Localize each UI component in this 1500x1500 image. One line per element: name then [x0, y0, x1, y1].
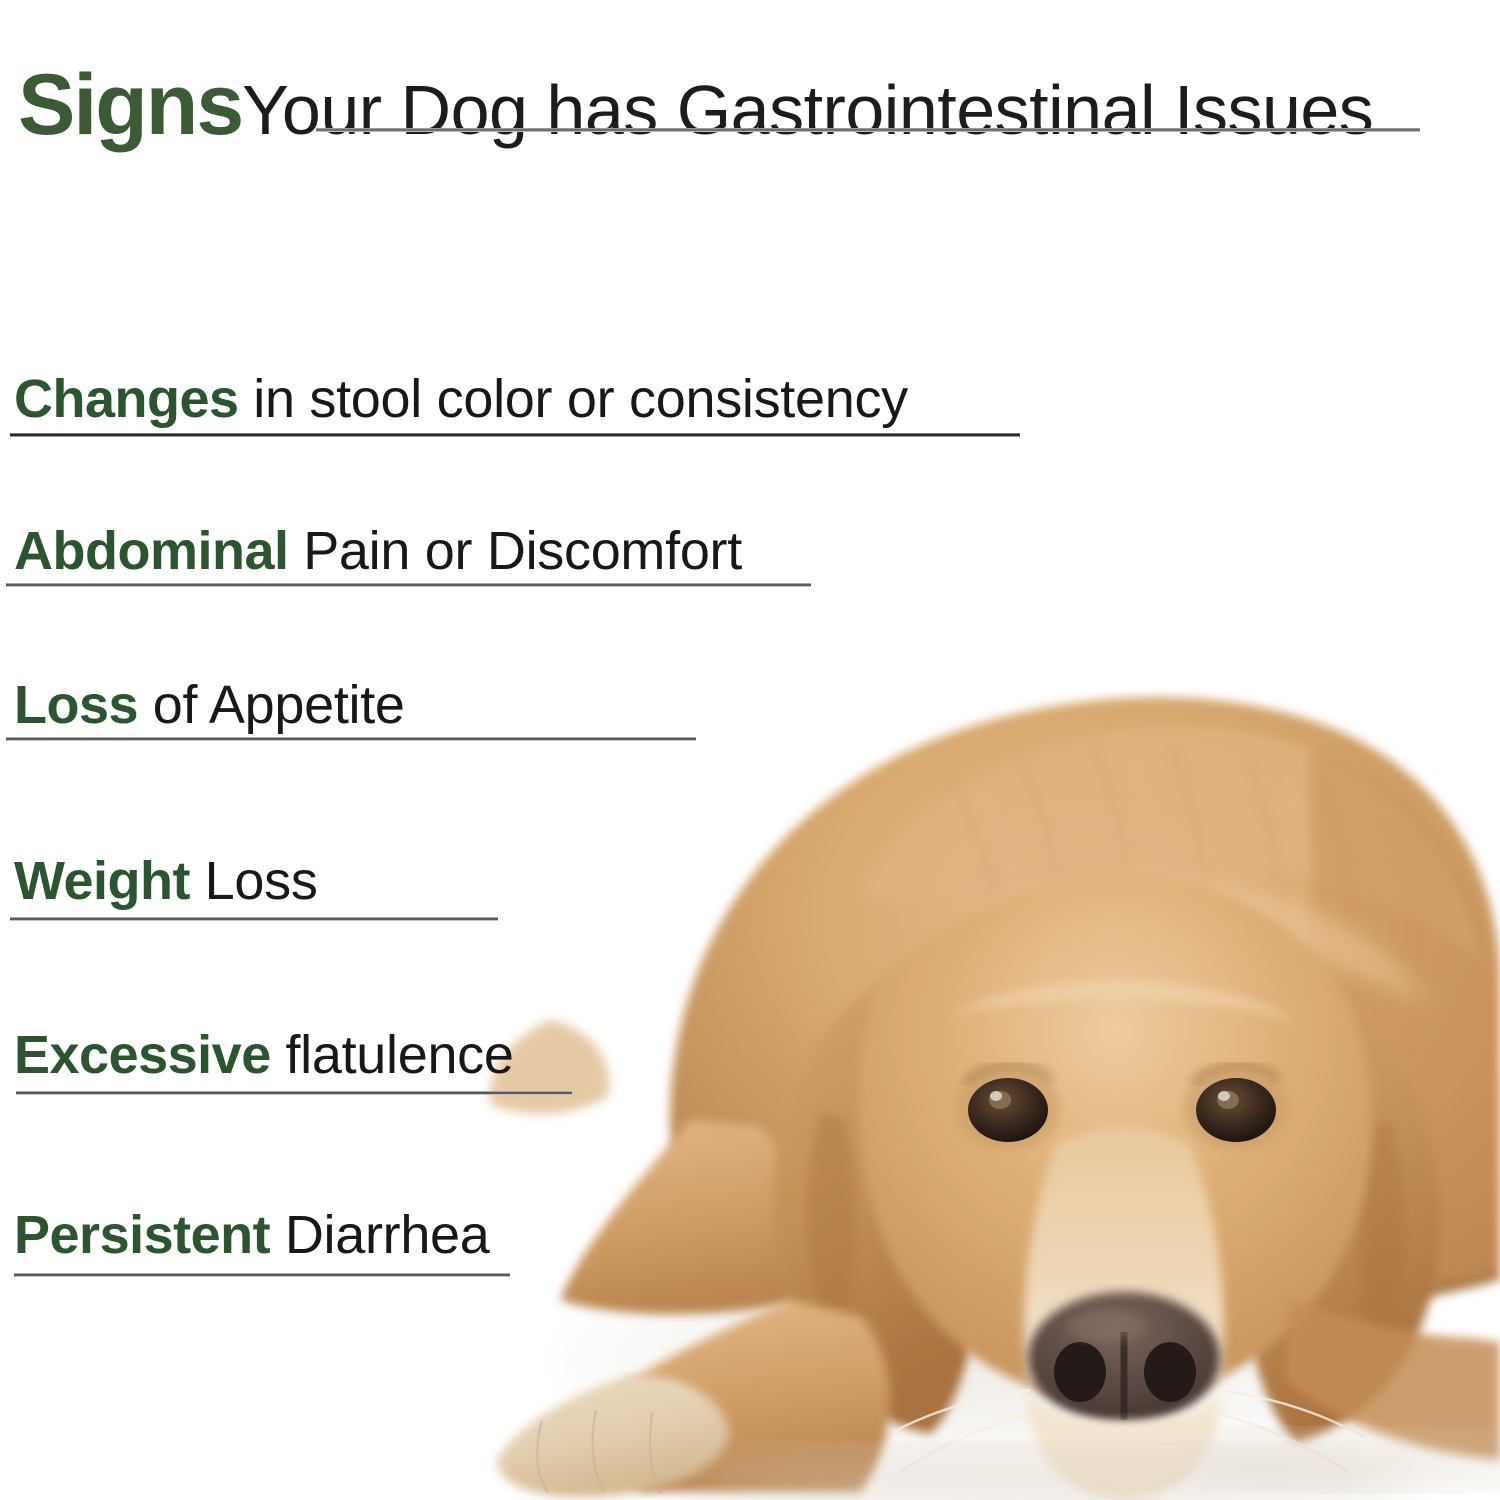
list-item-divider [6, 737, 696, 741]
list-item: Weight Loss [14, 853, 318, 910]
list-item-keyword: Changes [14, 369, 239, 429]
list-item-text: Persistent Diarrhea [14, 1207, 490, 1264]
list-item: Changes in stool color or consistency [14, 371, 908, 428]
list-item-divider [10, 917, 498, 921]
list-item-keyword: Loss [14, 675, 138, 735]
list-item: Loss of Appetite [14, 677, 405, 734]
list-item-text: Excessive flatulence [14, 1027, 514, 1084]
dog-nose [1028, 1292, 1220, 1424]
list-item-remainder: Loss [190, 851, 318, 911]
title-keyword: Signs [18, 57, 242, 153]
list-item-text: Weight Loss [14, 853, 318, 910]
list-item-divider [14, 1273, 510, 1277]
list-item-text: Abdominal Pain or Discomfort [14, 523, 742, 580]
list-item-divider [10, 433, 1020, 437]
list-item-keyword: Abdominal [14, 521, 289, 581]
title-underline [316, 128, 1420, 132]
dog-illustration [430, 420, 1500, 1500]
list-item-remainder: flatulence [271, 1025, 514, 1085]
list-item-divider [16, 1091, 572, 1095]
title-line: SignsYour Dog has Gastrointestinal Issue… [18, 62, 1478, 148]
list-item-text: Changes in stool color or consistency [14, 371, 908, 428]
title-remainder: Your Dog has Gastrointestinal Issues [242, 71, 1373, 149]
list-item-text: Loss of Appetite [14, 677, 405, 734]
infographic-page: SignsYour Dog has Gastrointestinal Issue… [0, 0, 1500, 1500]
list-item: Persistent Diarrhea [14, 1207, 490, 1264]
page-title: SignsYour Dog has Gastrointestinal Issue… [18, 62, 1478, 148]
list-item-remainder: Diarrhea [270, 1205, 489, 1265]
list-item-keyword: Persistent [14, 1205, 270, 1265]
list-item-divider [6, 583, 811, 587]
list-item-remainder: in stool color or consistency [239, 369, 908, 429]
list-item: Excessive flatulence [14, 1027, 514, 1084]
list-item: Abdominal Pain or Discomfort [14, 523, 742, 580]
list-item-remainder: of Appetite [138, 675, 405, 735]
list-item-remainder: Pain or Discomfort [289, 521, 742, 581]
list-item-keyword: Weight [14, 851, 190, 911]
dog-photo [430, 420, 1500, 1500]
list-item-keyword: Excessive [14, 1025, 271, 1085]
